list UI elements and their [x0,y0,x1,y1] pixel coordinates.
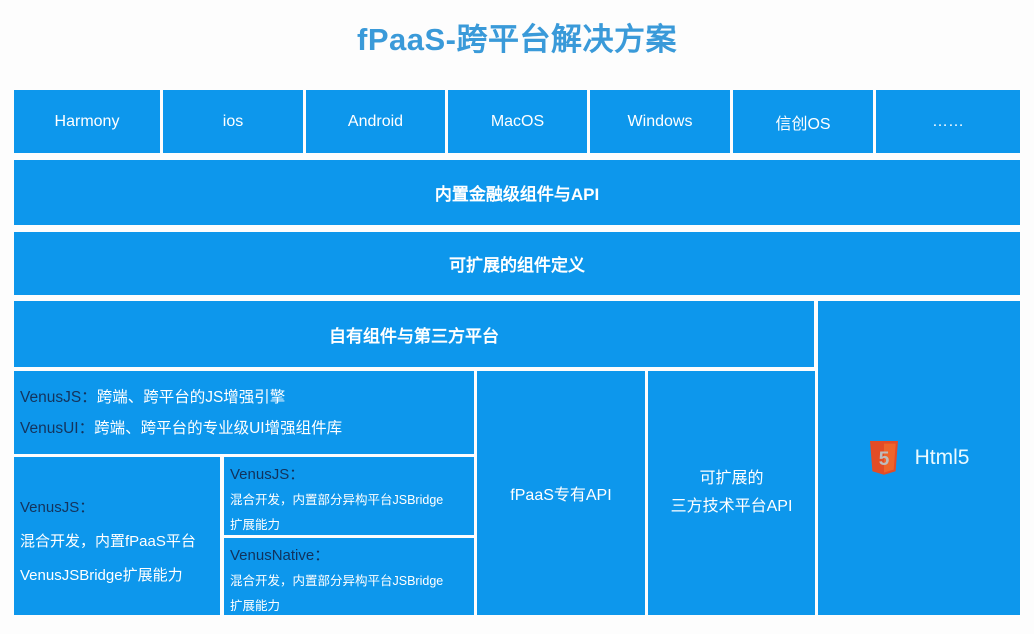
venusnative-heterogeneous-box[interactable]: VenusNative： 混合开发，内置部分异构平台JSBridge 扩展能力 [224,538,474,615]
venusjs-line2: VenusJSBridge扩展能力 [20,559,214,593]
venusjs-hybrid-box[interactable]: VenusJS： 混合开发，内置fPaaS平台 VenusJSBridge扩展能… [14,457,220,615]
platform-box-macos[interactable]: MacOS [448,90,587,153]
platform-box-ios[interactable]: ios [163,90,303,153]
column-label-line2: 三方技术平台API [671,493,793,521]
venus-banner[interactable]: VenusJS：跨端、跨平台的JS增强引擎 VenusUI：跨端、跨平台的专业级… [14,371,474,454]
venusjs-line2: 扩展能力 [230,513,468,535]
platform-label: Windows [628,113,693,131]
venusjs-key: VenusJS： [20,389,97,406]
venusjs-value: 跨端、跨平台的JS增强引擎 [97,389,286,406]
venusjs-key: VenusJS： [20,491,214,525]
venusui-key: VenusUI： [20,420,94,437]
platform-box-harmony[interactable]: Harmony [14,90,160,153]
html5-column[interactable]: 5 Html5 [818,301,1020,615]
page-title: fPaaS-跨平台解决方案 [0,14,1034,59]
platform-label: 信创OS [775,110,830,134]
band-own-components-third-party-platform[interactable]: 自有组件与第三方平台 [14,301,814,367]
venusnative-line2: 扩展能力 [230,594,468,615]
venus-banner-row: VenusJS：跨端、跨平台的JS增强引擎 [20,382,470,413]
platform-label: Harmony [55,113,120,131]
html5-label: Html5 [915,446,970,470]
platform-box-android[interactable]: Android [306,90,445,153]
venus-banner-row: VenusUI：跨端、跨平台的专业级UI增强组件库 [20,413,470,444]
platform-box-windows[interactable]: Windows [590,90,730,153]
venusjs-heading: VenusJS： [230,462,468,488]
fpaas-proprietary-api-column[interactable]: fPaaS专有API [477,371,645,615]
diagram-canvas: fPaaS-跨平台解决方案 Harmony ios Android MacOS … [0,0,1034,634]
platform-label: MacOS [491,113,544,131]
svg-text:5: 5 [878,449,889,470]
venusjs-line1: 混合开发，内置fPaaS平台 [20,525,214,559]
platform-box-more[interactable]: …… [876,90,1020,153]
platform-box-xinchuangos[interactable]: 信创OS [733,90,873,153]
venusui-value: 跨端、跨平台的专业级UI增强组件库 [94,420,342,437]
band-label: 自有组件与第三方平台 [329,322,499,347]
column-label: fPaaS专有API [510,481,611,505]
band-builtin-financial-components-api[interactable]: 内置金融级组件与API [14,160,1020,225]
venusjs-heterogeneous-box[interactable]: VenusJS： 混合开发，内置部分异构平台JSBridge 扩展能力 [224,457,474,535]
band-label: 内置金融级组件与API [435,180,599,205]
venusjs-line1: 混合开发，内置部分异构平台JSBridge [230,488,468,513]
html5-shield-icon: 5 [869,441,899,475]
third-party-platform-api-column[interactable]: 可扩展的 三方技术平台API [648,371,815,615]
platform-label: Android [348,113,403,131]
band-label: 可扩展的组件定义 [449,251,585,276]
band-extensible-component-definition[interactable]: 可扩展的组件定义 [14,232,1020,295]
column-label-line1: 可扩展的 [699,465,763,493]
venusnative-heading: VenusNative： [230,543,468,569]
venusnative-line1: 混合开发，内置部分异构平台JSBridge [230,569,468,594]
platform-label: ios [223,113,243,131]
platform-label: …… [932,113,964,131]
